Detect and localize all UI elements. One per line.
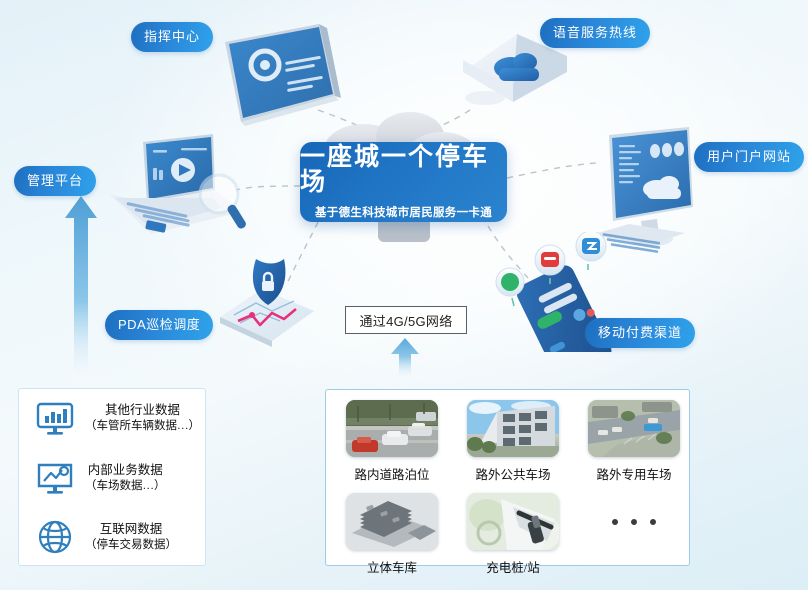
gallery-caption: 路内道路泊位 bbox=[354, 464, 429, 483]
main-title-card: 一座城一个停车场 基于德生科技城市居民服务一卡通 bbox=[300, 142, 507, 222]
gallery-caption: 路外专用车场 bbox=[596, 464, 671, 483]
ellipsis-dot bbox=[612, 519, 618, 525]
globe-icon bbox=[33, 517, 77, 557]
public-building-thumbnail bbox=[467, 400, 559, 457]
data-source-title: 互联网数据 bbox=[100, 521, 163, 538]
data-source-row[interactable]: 互联网数据 （停车交易数据） bbox=[19, 508, 205, 567]
label-management-platform[interactable]: 管理平台 bbox=[14, 166, 96, 196]
data-source-note: （车场数据…） bbox=[85, 479, 166, 495]
gallery-item[interactable]: 充电桩/站 bbox=[458, 493, 568, 576]
gallery-caption: 路外公共车场 bbox=[475, 464, 550, 483]
infographic-canvas: 指挥中心 语音服务热线 管理平台 用户门户网站 PDA巡检调度 移动付费渠道 一… bbox=[0, 0, 808, 590]
label-mobile-payment[interactable]: 移动付费渠道 bbox=[585, 318, 695, 348]
data-source-title: 其他行业数据 bbox=[105, 402, 180, 419]
parking-types-gallery: 路内道路泊位 bbox=[325, 389, 690, 566]
line-chart-monitor-icon bbox=[33, 458, 77, 498]
label-pda-dispatch[interactable]: PDA巡检调度 bbox=[105, 310, 213, 340]
command-center-screen-illustration bbox=[215, 18, 365, 138]
network-note-box: 通过4G/5G网络 bbox=[345, 306, 467, 334]
management-laptop-illustration bbox=[95, 128, 295, 263]
street-parking-thumbnail bbox=[346, 400, 438, 457]
data-source-row[interactable]: 内部业务数据 （车场数据…） bbox=[19, 448, 205, 507]
label-voice-hotline[interactable]: 语音服务热线 bbox=[540, 18, 650, 48]
data-source-row[interactable]: 其他行业数据 （车管所车辆数据…） bbox=[19, 389, 205, 448]
gallery-caption: 充电桩/站 bbox=[486, 557, 539, 576]
label-user-portal[interactable]: 用户门户网站 bbox=[694, 142, 804, 172]
data-feed-arrow-up-icon bbox=[64, 196, 98, 386]
multilevel-garage-thumbnail bbox=[346, 493, 438, 550]
ellipsis-dot bbox=[650, 519, 656, 525]
pda-shield-illustration bbox=[210, 255, 330, 365]
label-command-center[interactable]: 指挥中心 bbox=[131, 22, 213, 52]
data-source-title: 内部业务数据 bbox=[88, 462, 163, 479]
data-source-note: （车管所车辆数据…） bbox=[85, 419, 200, 435]
gallery-row: 路内道路泊位 bbox=[326, 400, 689, 483]
gallery-item[interactable]: 立体车库 bbox=[337, 493, 447, 576]
gallery-caption: 立体车库 bbox=[367, 557, 417, 576]
data-sources-panel: 其他行业数据 （车管所车辆数据…） 内部业务数据 （车场数据…） bbox=[18, 388, 206, 566]
aerial-lot-thumbnail bbox=[588, 400, 680, 457]
gallery-item[interactable]: 路外公共车场 bbox=[458, 400, 568, 483]
bar-chart-monitor-icon bbox=[33, 399, 77, 439]
ellipsis-dot bbox=[631, 519, 637, 525]
page-title: 一座城一个停车场 bbox=[300, 145, 507, 195]
data-source-note: （停车交易数据） bbox=[85, 538, 177, 554]
gallery-item[interactable]: 路内道路泊位 bbox=[337, 400, 447, 483]
network-arrow-up-icon bbox=[390, 338, 420, 380]
page-subtitle: 基于德生科技城市居民服务一卡通 bbox=[315, 204, 492, 220]
ev-charger-thumbnail bbox=[467, 493, 559, 550]
gallery-item[interactable]: 路外专用车场 bbox=[579, 400, 689, 483]
more-items-indicator bbox=[579, 493, 689, 550]
gallery-row: 立体车库 充电桩/站 bbox=[326, 493, 689, 576]
